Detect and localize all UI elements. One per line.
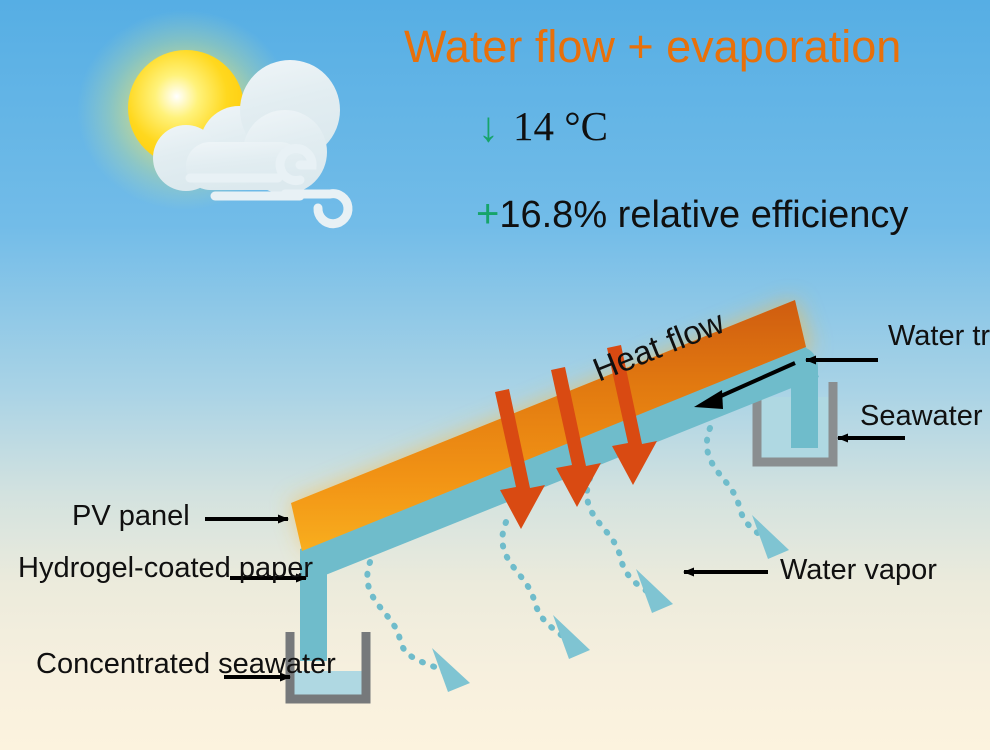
down-arrow-icon: ↓ xyxy=(478,106,499,148)
figure-title: Water flow + evaporation xyxy=(404,22,901,72)
efficiency-gain-value: 16.8% relative efficiency xyxy=(499,194,908,237)
pv-panel-label: PV panel xyxy=(72,500,190,532)
efficiency-gain-metric: + 16.8% relative efficiency xyxy=(476,192,908,237)
concentrated-seawater-label: Concentrated seawater xyxy=(36,648,221,680)
temperature-drop-metric: ↓ 14 °C xyxy=(478,104,608,150)
diagram-canvas: Water flow + evaporation ↓ 14 °C + 16.8%… xyxy=(0,0,990,750)
water-transfer-label: Water transfer xyxy=(888,320,986,352)
water-vapor-label: Water vapor xyxy=(780,554,937,586)
seawater-tank-label: Seawater tank xyxy=(860,400,986,432)
temperature-drop-value: 14 °C xyxy=(513,104,608,150)
efficiency-plus-sign: + xyxy=(476,192,499,237)
hydrogel-paper-label: Hydrogel-coated paper xyxy=(18,552,233,584)
